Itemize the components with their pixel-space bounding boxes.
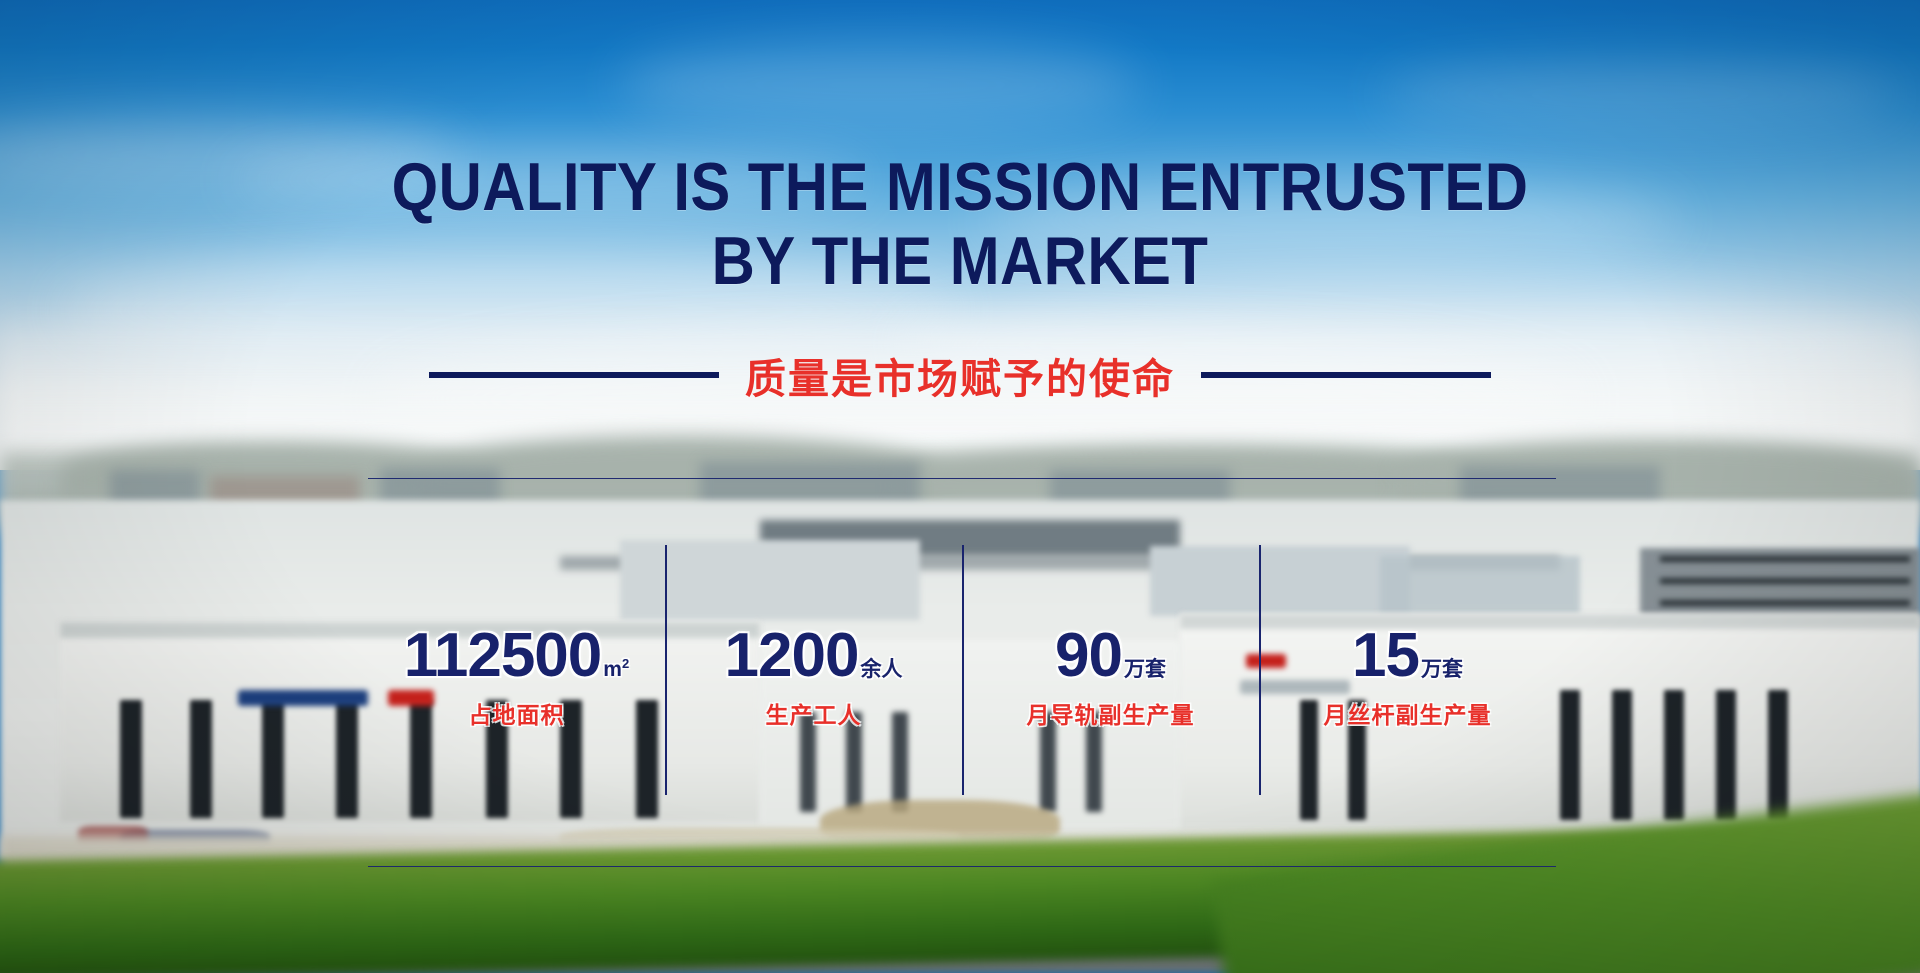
headline-line-2: BY THE MARKET bbox=[115, 224, 1805, 298]
stat-number-line: 1200 余人 bbox=[665, 625, 962, 687]
stat-unit: 万套 bbox=[1421, 657, 1463, 687]
stat-caption: 生产工人 bbox=[665, 696, 962, 730]
stat-value: 15 bbox=[1352, 625, 1419, 687]
stat-item-screw-output: 15 万套 月丝杆副生产量 bbox=[1259, 545, 1556, 730]
subtitle-rule-right bbox=[1201, 372, 1491, 378]
stat-value: 1200 bbox=[725, 625, 859, 687]
stat-number-line: 90 万套 bbox=[962, 625, 1259, 687]
stat-unit: 万套 bbox=[1124, 657, 1166, 687]
banner-content: QUALITY IS THE MISSION ENTRUSTED BY THE … bbox=[0, 0, 1920, 973]
stat-item-land-area: 112500 m2 占地面积 bbox=[368, 545, 665, 730]
stat-number-line: 15 万套 bbox=[1259, 625, 1556, 687]
stat-number-line: 112500 m2 bbox=[368, 625, 665, 687]
headline: QUALITY IS THE MISSION ENTRUSTED BY THE … bbox=[115, 150, 1805, 298]
subtitle-rule-left bbox=[429, 372, 719, 378]
stats-rule-top bbox=[368, 478, 1556, 479]
stat-item-workers: 1200 余人 生产工人 bbox=[665, 545, 962, 730]
subtitle-row: 质量是市场赋予的使命 bbox=[0, 345, 1920, 405]
banner-stage: QUALITY IS THE MISSION ENTRUSTED BY THE … bbox=[0, 0, 1920, 973]
stat-unit: 余人 bbox=[860, 657, 902, 687]
stats-rule-bottom bbox=[368, 866, 1556, 867]
stat-caption: 占地面积 bbox=[368, 696, 665, 730]
stat-value: 112500 bbox=[404, 625, 601, 687]
stat-caption: 月导轨副生产量 bbox=[962, 696, 1259, 730]
stat-unit: m2 bbox=[603, 657, 629, 687]
stats-row: 112500 m2 占地面积 1200 余人 生产工人 90 万套 月导轨副生产… bbox=[368, 545, 1556, 845]
headline-line-1: QUALITY IS THE MISSION ENTRUSTED bbox=[392, 149, 1529, 225]
subtitle-chinese: 质量是市场赋予的使命 bbox=[745, 345, 1175, 405]
stat-caption: 月丝杆副生产量 bbox=[1259, 696, 1556, 730]
stat-value: 90 bbox=[1055, 625, 1122, 687]
stat-item-guide-rail-output: 90 万套 月导轨副生产量 bbox=[962, 545, 1259, 730]
